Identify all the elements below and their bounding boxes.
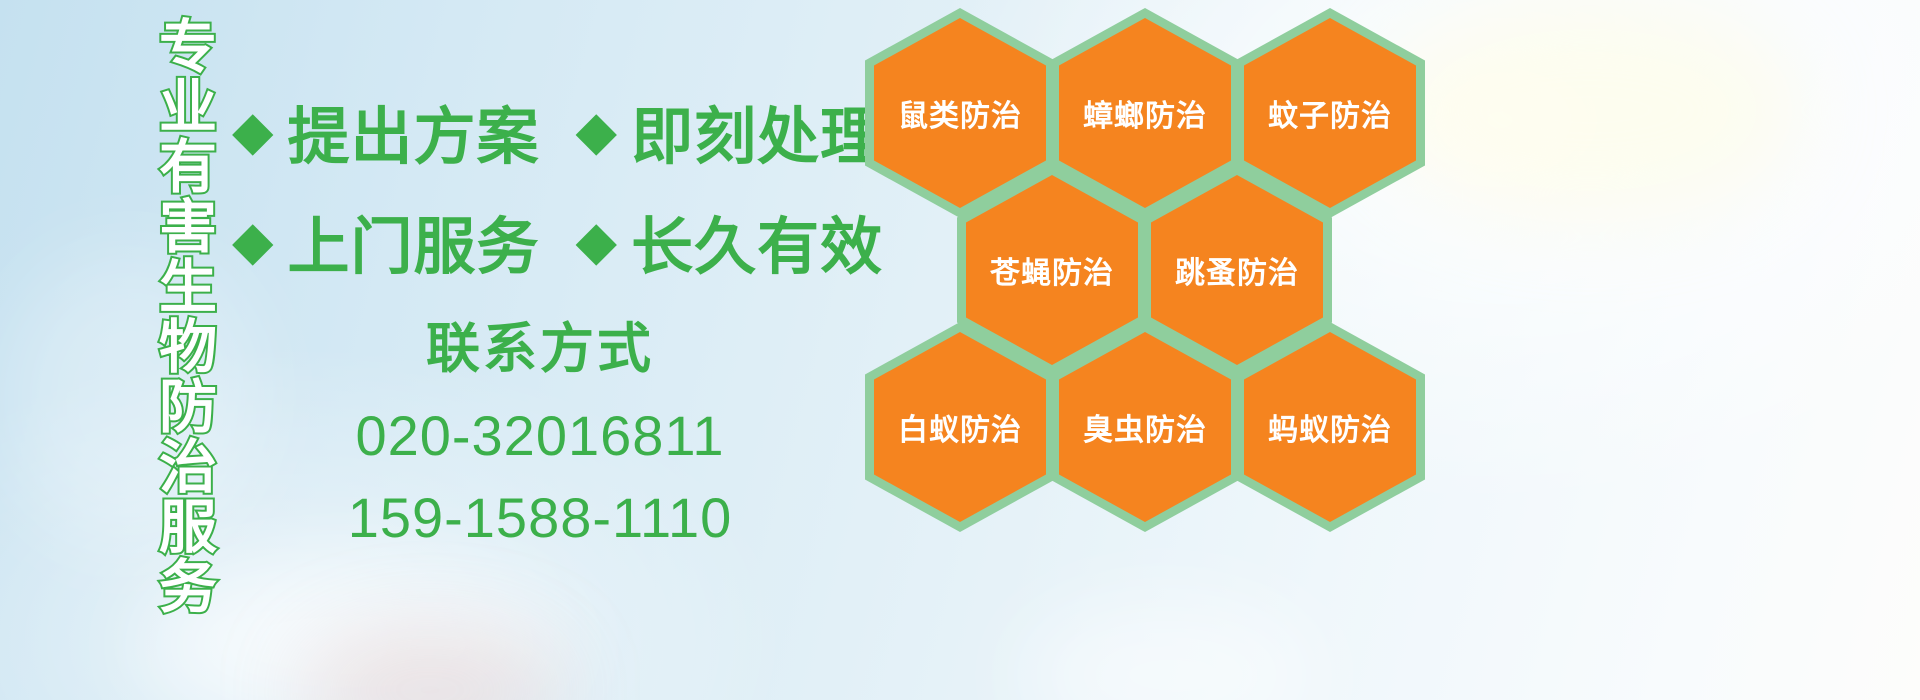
service-label: 跳蚤防治 bbox=[1175, 248, 1299, 292]
service-label: 蚊子防治 bbox=[1268, 91, 1392, 135]
service-hexagon-grid: 鼠类防治 蟑螂防治 蚊子防治 苍蝇防治 跳蚤防治 白蚁防治 臭虫防治 bbox=[0, 0, 1920, 700]
promo-banner: 专业有害生物防治服务 ◆ 提出方案 ◆ 即刻处理 ◆ 上门服务 ◆ 长久有效 联… bbox=[0, 0, 1920, 700]
service-label: 臭虫防治 bbox=[1083, 405, 1207, 449]
service-label: 鼠类防治 bbox=[898, 91, 1022, 135]
service-label: 蟑螂防治 bbox=[1083, 91, 1207, 135]
service-label: 白蚁防治 bbox=[898, 405, 1022, 449]
service-label: 蚂蚁防治 bbox=[1268, 405, 1392, 449]
service-label: 苍蝇防治 bbox=[990, 248, 1114, 292]
